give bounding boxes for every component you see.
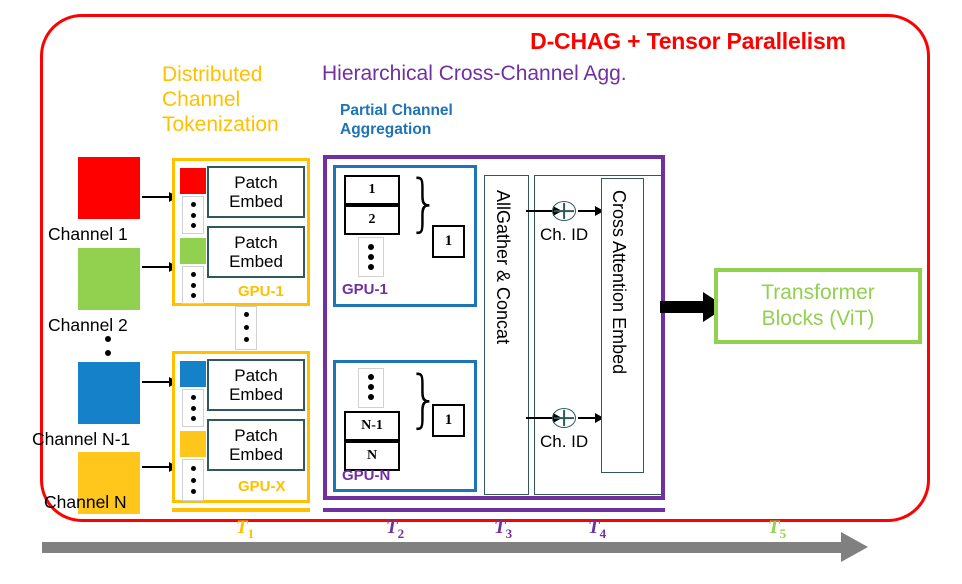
patch-embed-box-1[interactable]: Patch Embed <box>207 166 305 218</box>
timeline-stage-2: T2 <box>386 517 404 542</box>
timeline-stage-5-sub: 5 <box>780 526 787 541</box>
channel-arrow-n-minus-1 <box>142 381 170 383</box>
chid-arrow-in-2 <box>526 417 554 419</box>
agg-token-ellipsis-1 <box>368 244 374 270</box>
token-ellipsis-2 <box>190 272 196 298</box>
channel-label-2: Channel 2 <box>48 315 128 336</box>
chid-label-1: Ch. ID <box>540 225 588 245</box>
output-arrow <box>660 301 704 313</box>
chid-arrow-in-1 <box>526 210 554 212</box>
pca-gpu-label-n: GPU-N <box>342 467 390 484</box>
channel-arrow-1 <box>142 196 170 198</box>
timeline-stage-5: T5 <box>768 517 786 542</box>
timeline-stage-3: T3 <box>494 517 512 542</box>
agg-result-1: 1 <box>432 225 465 258</box>
token-ellipsis-3 <box>190 395 196 421</box>
timeline-stage-4-base: T <box>588 517 600 538</box>
patch-embed-label: Patch Embed <box>209 173 303 211</box>
patch-embed-box-3[interactable]: Patch Embed <box>207 359 305 411</box>
timeline-stage-4: T4 <box>588 517 606 542</box>
channel-arrow-2 <box>142 266 170 268</box>
plus-circle-icon-2 <box>552 408 576 428</box>
section-title-hierarchical-cross-channel-agg: Hierarchical Cross-Channel Agg. <box>322 62 627 86</box>
timeline-stage-3-base: T <box>494 517 506 538</box>
chid-arrow-out-1 <box>578 210 596 212</box>
timeline-arrow <box>42 542 842 553</box>
chid-arrow-out-2 <box>578 417 596 419</box>
stage-underline-hcca <box>323 508 665 512</box>
transformer-blocks-line1: Transformer <box>761 281 875 304</box>
agg-token-2: 2 <box>344 205 400 235</box>
agg-token-ellipsis-2 <box>368 374 374 400</box>
patch-embed-box-2[interactable]: Patch Embed <box>207 226 305 278</box>
timeline-stage-1-sub: 1 <box>248 526 255 541</box>
patch-embed-label: Patch Embed <box>209 233 303 271</box>
timeline-stage-1-base: T <box>236 517 248 538</box>
token-swatch-channel-2 <box>180 238 206 264</box>
diagram-canvas: D-CHAG + Tensor Parallelism Distributed … <box>0 0 962 584</box>
agg-result-2: 1 <box>432 404 465 437</box>
transformer-blocks-line2: Blocks (ViT) <box>762 307 875 330</box>
token-swatch-channel-n-minus-1 <box>180 361 206 387</box>
agg-token-3: N-1 <box>344 411 400 441</box>
token-swatch-channel-n <box>180 431 206 457</box>
section-title-distributed-channel-tokenization: Distributed Channel Tokenization <box>162 62 310 137</box>
patch-embed-label: Patch Embed <box>209 426 303 464</box>
page-title: D-CHAG + Tensor Parallelism <box>468 28 908 55</box>
transformer-blocks-label: Transformer Blocks (ViT) <box>761 280 875 332</box>
patch-embed-box-4[interactable]: Patch Embed <box>207 419 305 471</box>
timeline-stage-1: T1 <box>236 517 254 542</box>
tokenization-gpu-ellipsis <box>243 312 249 342</box>
channel-arrow-n <box>142 466 170 468</box>
token-ellipsis-4 <box>190 466 196 494</box>
transformer-blocks-box[interactable]: Transformer Blocks (ViT) <box>714 268 922 344</box>
plus-circle-icon-1 <box>552 201 576 221</box>
token-ellipsis-1 <box>190 202 196 228</box>
timeline-stage-2-base: T <box>386 517 398 538</box>
timeline-stage-3-sub: 3 <box>506 526 513 541</box>
cross-attention-embed-label: Cross Attention Embed <box>608 190 629 374</box>
timeline-stage-4-sub: 4 <box>600 526 607 541</box>
tokenization-gpu-label-x: GPU-X <box>238 478 286 495</box>
channel-swatch-2 <box>78 248 140 310</box>
agg-token-1: 1 <box>344 175 400 205</box>
allgather-concat-label: AllGather & Concat <box>492 190 513 344</box>
channel-label-n: Channel N <box>44 492 127 513</box>
stage-underline-tokenization <box>172 508 310 512</box>
patch-embed-label: Patch Embed <box>209 366 303 404</box>
channel-label-1: Channel 1 <box>48 224 128 245</box>
timeline-stage-2-sub: 2 <box>398 526 405 541</box>
channel-label-n-minus-1: Channel N-1 <box>32 429 130 450</box>
pca-gpu-label-1: GPU-1 <box>342 281 388 298</box>
channel-swatch-n-minus-1 <box>78 362 140 424</box>
channel-swatch-1 <box>78 157 140 219</box>
token-swatch-channel-1 <box>180 168 206 194</box>
tokenization-gpu-label-1: GPU-1 <box>238 283 284 300</box>
timeline-stage-5-base: T <box>768 517 780 538</box>
chid-label-2: Ch. ID <box>540 432 588 452</box>
section-title-partial-channel-aggregation: Partial Channel Aggregation <box>340 101 510 139</box>
